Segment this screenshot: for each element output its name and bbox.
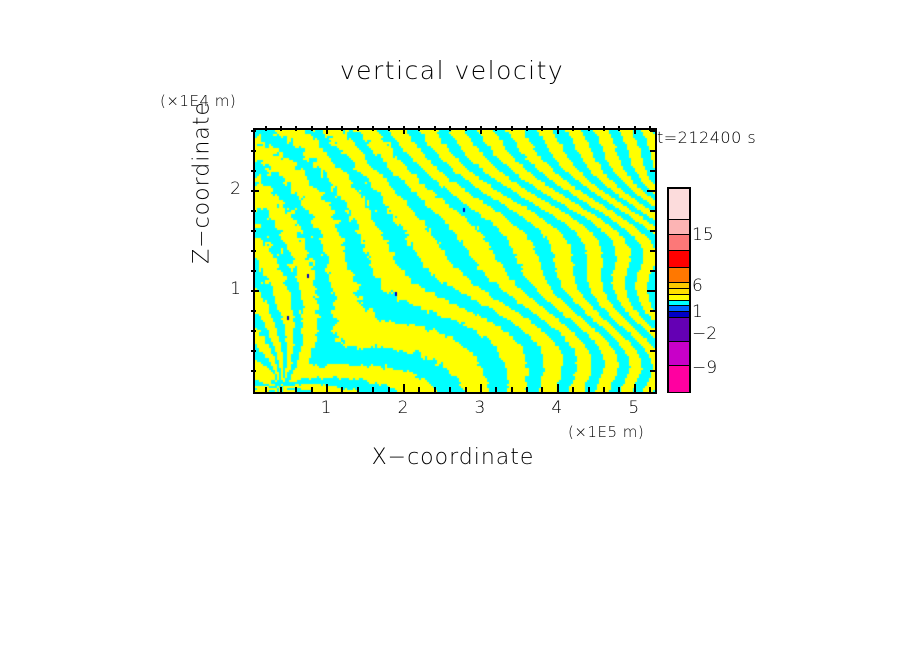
x-tick: [572, 387, 574, 392]
colorbar-separator: [669, 311, 689, 312]
x-tick: [588, 126, 590, 131]
colorbar-separator: [669, 219, 689, 220]
x-tick: [449, 387, 451, 392]
x-tick: [280, 126, 282, 131]
x-tick: [372, 387, 374, 392]
x-tick: [526, 387, 528, 392]
x-tick: [280, 387, 282, 392]
x-tick: [588, 387, 590, 392]
colorbar-separator: [669, 282, 689, 283]
y-tick: [650, 270, 655, 272]
x-tick: [541, 126, 543, 131]
x-tick: [557, 126, 559, 134]
colorbar-separator: [669, 294, 689, 295]
x-tick: [434, 126, 436, 131]
y-tick: [650, 350, 655, 352]
x-tick: [418, 387, 420, 392]
colorbar-band: [669, 250, 689, 268]
x-tick-label: 2: [388, 398, 418, 418]
y-tick: [251, 150, 256, 152]
time-annotation: t=212400 s: [657, 128, 756, 147]
x-tick: [649, 387, 651, 392]
y-tick: [650, 330, 655, 332]
x-tick-label: 5: [619, 398, 649, 418]
y-tick: [647, 290, 655, 292]
x-tick: [511, 387, 513, 392]
x-tick: [541, 387, 543, 392]
colorbar-value-label: 1: [692, 302, 703, 322]
y-tick: [650, 230, 655, 232]
y-tick: [650, 170, 655, 172]
y-tick: [251, 170, 256, 172]
colorbar-value-label: 6: [692, 276, 703, 296]
x-tick: [495, 387, 497, 392]
x-tick: [449, 126, 451, 131]
chart-title: vertical velocity: [0, 56, 904, 85]
y-tick: [251, 330, 256, 332]
x-tick: [634, 384, 636, 392]
x-tick: [526, 126, 528, 131]
x-tick: [311, 387, 313, 392]
x-tick: [403, 384, 405, 392]
colorbar: [667, 187, 691, 393]
y-tick: [251, 230, 256, 232]
x-tick: [388, 126, 390, 131]
colorbar-separator: [669, 341, 689, 342]
x-tick: [341, 126, 343, 131]
figure-canvas: vertical velocity (×1E4 m) t=212400 s Z−…: [0, 0, 904, 654]
velocity-field-image: [255, 130, 655, 392]
x-tick: [618, 126, 620, 131]
x-tick: [511, 126, 513, 131]
colorbar-band: [669, 341, 689, 365]
colorbar-band: [669, 267, 689, 283]
colorbar-band: [669, 219, 689, 235]
colorbar-separator: [669, 305, 689, 306]
x-axis-title: X−coordinate: [253, 445, 653, 470]
x-tick: [603, 387, 605, 392]
x-tick: [265, 126, 267, 131]
x-tick: [418, 126, 420, 131]
y-tick-label: 1: [211, 279, 241, 299]
colorbar-band: [669, 365, 689, 392]
x-tick: [357, 387, 359, 392]
y-tick: [251, 350, 256, 352]
y-tick: [647, 190, 655, 192]
x-tick: [634, 126, 636, 134]
colorbar-separator: [669, 267, 689, 268]
x-tick: [295, 126, 297, 131]
x-tick: [495, 126, 497, 131]
x-tick: [465, 387, 467, 392]
y-tick: [650, 210, 655, 212]
x-tick: [480, 126, 482, 134]
x-tick: [434, 387, 436, 392]
colorbar-separator: [669, 234, 689, 235]
x-tick: [480, 384, 482, 392]
y-tick: [650, 370, 655, 372]
x-tick: [311, 126, 313, 131]
colorbar-value-label: 15: [692, 225, 714, 245]
y-tick: [650, 310, 655, 312]
colorbar-band: [669, 189, 689, 220]
x-tick: [295, 387, 297, 392]
x-tick: [357, 126, 359, 131]
colorbar-value-label: −2: [692, 324, 717, 344]
y-tick: [251, 370, 256, 372]
y-tick: [650, 250, 655, 252]
colorbar-separator: [669, 288, 689, 289]
x-tick-label: 3: [465, 398, 495, 418]
y-tick: [251, 130, 256, 132]
plot-area: [253, 128, 657, 394]
colorbar-separator: [669, 300, 689, 301]
x-tick-label: 4: [542, 398, 572, 418]
x-tick: [603, 126, 605, 131]
x-tick: [265, 387, 267, 392]
colorbar-band: [669, 317, 689, 342]
x-tick: [326, 384, 328, 392]
x-tick: [465, 126, 467, 131]
y-tick: [251, 190, 259, 192]
y-tick: [650, 130, 655, 132]
colorbar-value-label: −9: [692, 358, 717, 378]
colorbar-separator: [669, 365, 689, 366]
colorbar-separator: [669, 250, 689, 251]
y-tick: [251, 210, 256, 212]
y-tick: [251, 310, 256, 312]
x-tick: [326, 126, 328, 134]
x-tick: [341, 387, 343, 392]
x-tick: [372, 126, 374, 131]
x-tick: [572, 126, 574, 131]
x-tick: [388, 387, 390, 392]
colorbar-separator: [669, 317, 689, 318]
y-tick: [650, 150, 655, 152]
y-tick: [251, 270, 256, 272]
y-tick: [251, 290, 259, 292]
x-axis-unit-label: (×1E5 m): [568, 423, 644, 441]
x-tick-label: 1: [311, 398, 341, 418]
y-tick-label: 2: [211, 179, 241, 199]
colorbar-band: [669, 234, 689, 250]
x-tick: [618, 387, 620, 392]
x-tick: [557, 384, 559, 392]
y-tick: [251, 250, 256, 252]
x-tick: [403, 126, 405, 134]
